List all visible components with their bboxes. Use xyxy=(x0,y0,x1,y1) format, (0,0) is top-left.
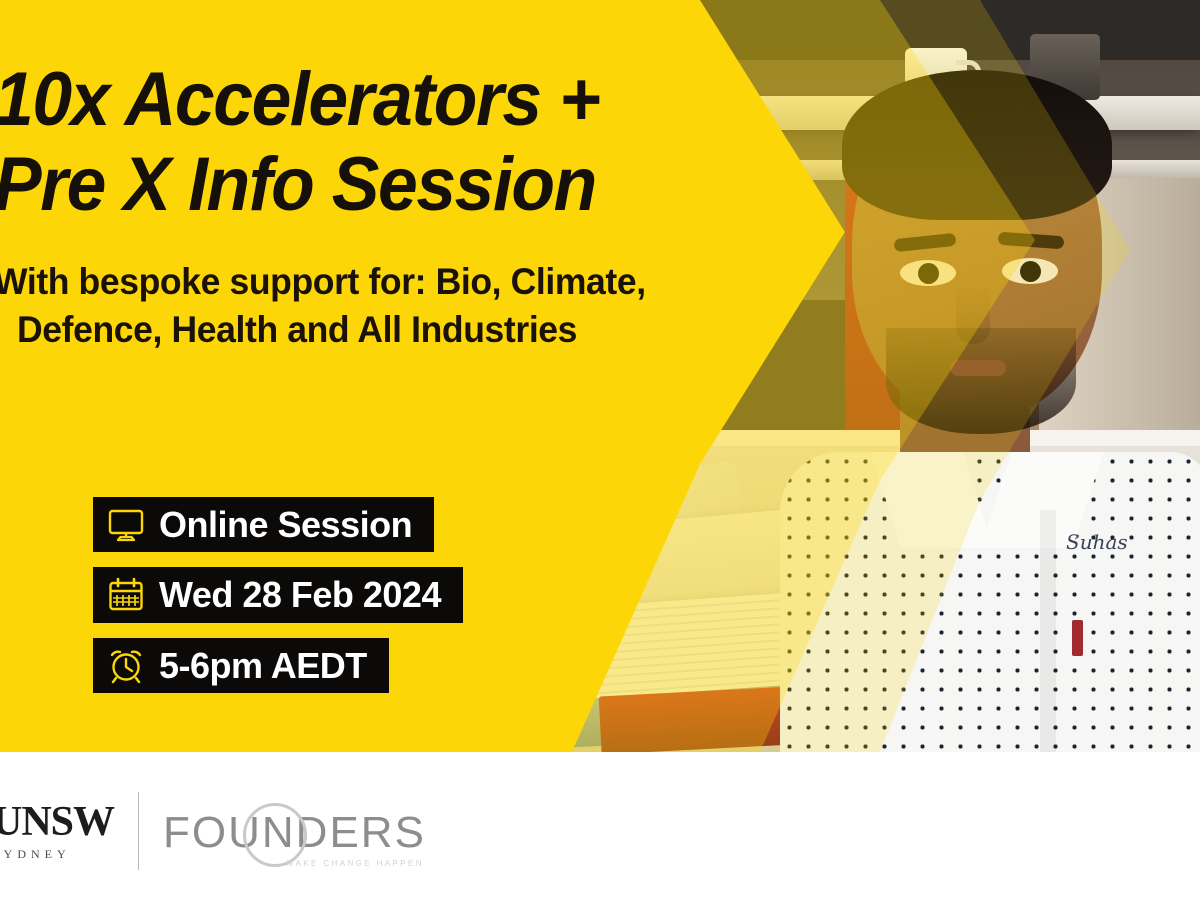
unsw-wordmark: UNSW xyxy=(0,801,114,843)
event-time-label: 5-6pm AEDT xyxy=(159,645,367,686)
alarm-clock-icon xyxy=(107,646,145,684)
banner-copy: 10x Accelerators + Pre X Info Session Wi… xyxy=(0,0,700,752)
unsw-logo: UNSW SYDNEY xyxy=(0,801,114,862)
founders-tagline: MAKE CHANGE HAPPEN xyxy=(286,859,423,868)
headline-line-2: Pre X Info Session xyxy=(0,147,658,222)
event-details: Online Session Wed 28 Feb 2024 xyxy=(93,497,463,693)
person-shirt-label-tab xyxy=(1072,620,1083,656)
event-detail-format: Online Session xyxy=(93,497,434,552)
headline-line-1: 10x Accelerators + xyxy=(0,57,599,142)
founders-u-ring-icon xyxy=(243,803,307,867)
subtitle-line-1: With bespoke support for: Bio, Climate, xyxy=(0,261,646,302)
logo-divider xyxy=(138,792,139,870)
page-title: 10x Accelerators + Pre X Info Session xyxy=(0,62,658,222)
calendar-icon xyxy=(107,576,145,614)
event-detail-time: 5-6pm AEDT xyxy=(93,638,389,693)
logo-lockup: UNSW SYDNEY FOUNDERS MAKE CHANGE HAPPEN xyxy=(0,792,426,870)
founders-logo: FOUNDERS MAKE CHANGE HAPPEN xyxy=(163,807,426,855)
banner-subtitle: With bespoke support for: Bio, Climate, … xyxy=(0,258,685,354)
person-shirt-placket xyxy=(1040,510,1056,752)
subtitle-line-2: Defence, Health and All Industries xyxy=(0,306,685,354)
event-date-label: Wed 28 Feb 2024 xyxy=(159,574,441,615)
event-format-label: Online Session xyxy=(159,504,412,545)
event-detail-date: Wed 28 Feb 2024 xyxy=(93,567,463,622)
footer: UNSW SYDNEY FOUNDERS MAKE CHANGE HAPPEN xyxy=(0,752,1200,900)
monitor-icon xyxy=(107,506,145,544)
promo-banner: Suhas 10x Accelerators + Pre X Info Sess… xyxy=(0,0,1200,752)
unsw-campus-label: SYDNEY xyxy=(0,847,71,862)
person-name-tag: Suhas xyxy=(1066,530,1176,566)
